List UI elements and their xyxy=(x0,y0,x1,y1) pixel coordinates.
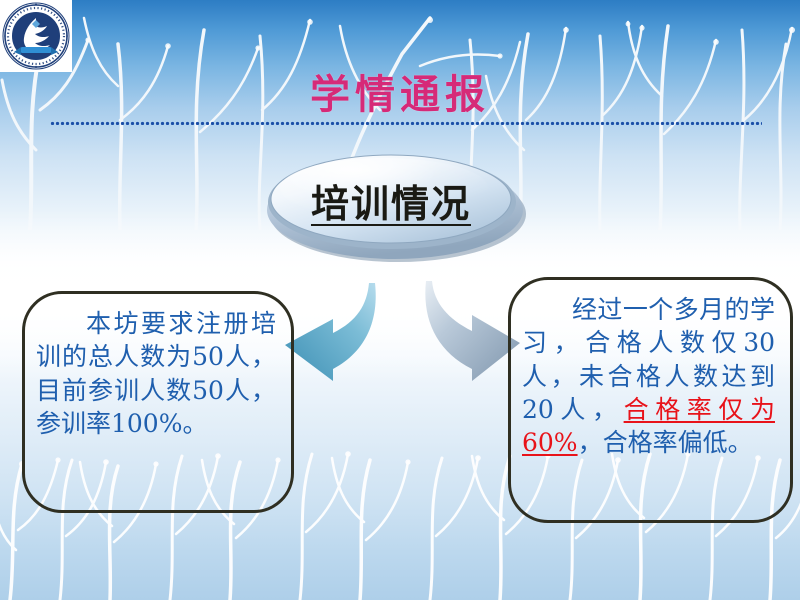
left-text-box: 本坊要求注册培训的总人数为50人，目前参训人数50人，参训率100%。 xyxy=(22,291,294,513)
right-box-text-part2: ，合格率偏低。 xyxy=(578,428,753,457)
right-text-box: 经过一个多月的学习，合格人数仅30人，未合格人数达到20人，合格率仅为60%，合… xyxy=(508,277,793,523)
arrow-to-right-box xyxy=(408,281,523,383)
curved-arrow-right-icon xyxy=(408,281,523,383)
left-box-text: 本坊要求注册培训的总人数为50人，目前参训人数50人，参训率100%。 xyxy=(36,307,276,440)
arrow-to-left-box xyxy=(283,283,393,383)
topic-oval: 培训情况 xyxy=(262,144,534,266)
title-divider xyxy=(50,120,762,125)
page-title: 学情通报 xyxy=(0,62,800,120)
slide-canvas: 学情通报 xyxy=(0,0,800,600)
right-box-text: 经过一个多月的学习，合格人数仅30人，未合格人数达到20人，合格率仅为60%，合… xyxy=(522,293,775,459)
curved-arrow-left-icon xyxy=(283,283,393,383)
oval-label: 培训情况 xyxy=(262,170,520,230)
